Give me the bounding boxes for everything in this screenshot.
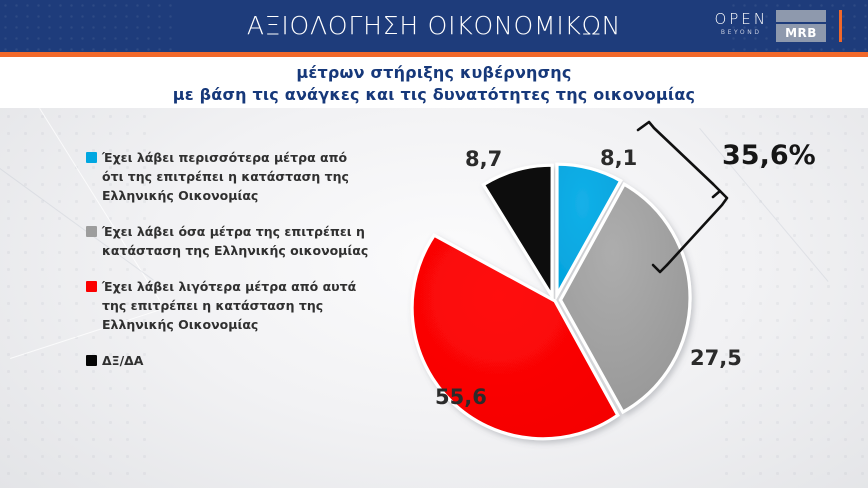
pie-value-label-more-measures: 8,1	[600, 146, 637, 170]
subtitle-band: μέτρων στήριξης κυβέρνησης με βάση τις α…	[0, 57, 868, 108]
legend-label-fewer-measures: Έχει λάβει λιγότερα μέτρα από αυτά της ε…	[102, 277, 371, 334]
legend-swatch-gray	[86, 226, 97, 237]
legend-swatch-blue	[86, 152, 97, 163]
mrb-logo-bar	[776, 10, 826, 22]
pie-value-label-fewer-measures: 55,6	[435, 385, 487, 409]
mrb-logo-text: MRB	[776, 24, 826, 42]
legend-swatch-black	[86, 355, 97, 366]
pie-value-label-dk-na: 8,7	[465, 147, 502, 171]
pie-value-label-adequate-measures: 27,5	[690, 346, 742, 370]
orange-accent-tick	[839, 10, 842, 42]
subtitle-line-1: μέτρων στήριξης κυβέρνησης	[0, 57, 868, 84]
open-logo-main: OPEN	[714, 12, 768, 27]
legend-item-fewer-measures[interactable]: Έχει λάβει λιγότερα μέτρα από αυτά της ε…	[86, 277, 371, 334]
header-bar: ΑΞΙΟΛΟΓΗΣΗ ΟΙΚΟΝΟΜΙΚΩΝ OPEN BEYOND MRB	[0, 0, 868, 52]
poll-slide: ΑΞΙΟΛΟΓΗΣΗ ΟΙΚΟΝΟΜΙΚΩΝ OPEN BEYOND MRB μ…	[0, 0, 868, 488]
pie-chart: 8,7 8,1 27,5 55,6 35,6%	[395, 120, 735, 460]
legend-item-more-measures[interactable]: Έχει λάβει περισσότερα μέτρα από ότι της…	[86, 148, 371, 205]
legend-label-adequate-measures: Έχει λάβει όσα μέτρα της επιτρέπει η κατ…	[102, 222, 371, 260]
legend-swatch-red	[86, 281, 97, 292]
mrb-logo: MRB	[776, 10, 826, 42]
bracket-total-label: 35,6%	[722, 140, 816, 171]
legend-item-dk-na[interactable]: ΔΞ/ΔΑ	[86, 351, 371, 370]
chart-area: Έχει λάβει περισσότερα μέτρα από ότι της…	[0, 108, 868, 488]
open-logo-sub: BEYOND	[714, 27, 768, 38]
subtitle-line-2: με βάση τις ανάγκες και τις δυνατότητες …	[0, 84, 868, 106]
legend-item-adequate-measures[interactable]: Έχει λάβει όσα μέτρα της επιτρέπει η κατ…	[86, 222, 371, 260]
legend-label-more-measures: Έχει λάβει περισσότερα μέτρα από ότι της…	[102, 148, 371, 205]
legend-label-dk-na: ΔΞ/ΔΑ	[102, 351, 144, 370]
legend: Έχει λάβει περισσότερα μέτρα από ότι της…	[86, 148, 371, 387]
pie-svg	[395, 120, 735, 460]
open-beyond-logo: OPEN BEYOND	[714, 12, 768, 38]
